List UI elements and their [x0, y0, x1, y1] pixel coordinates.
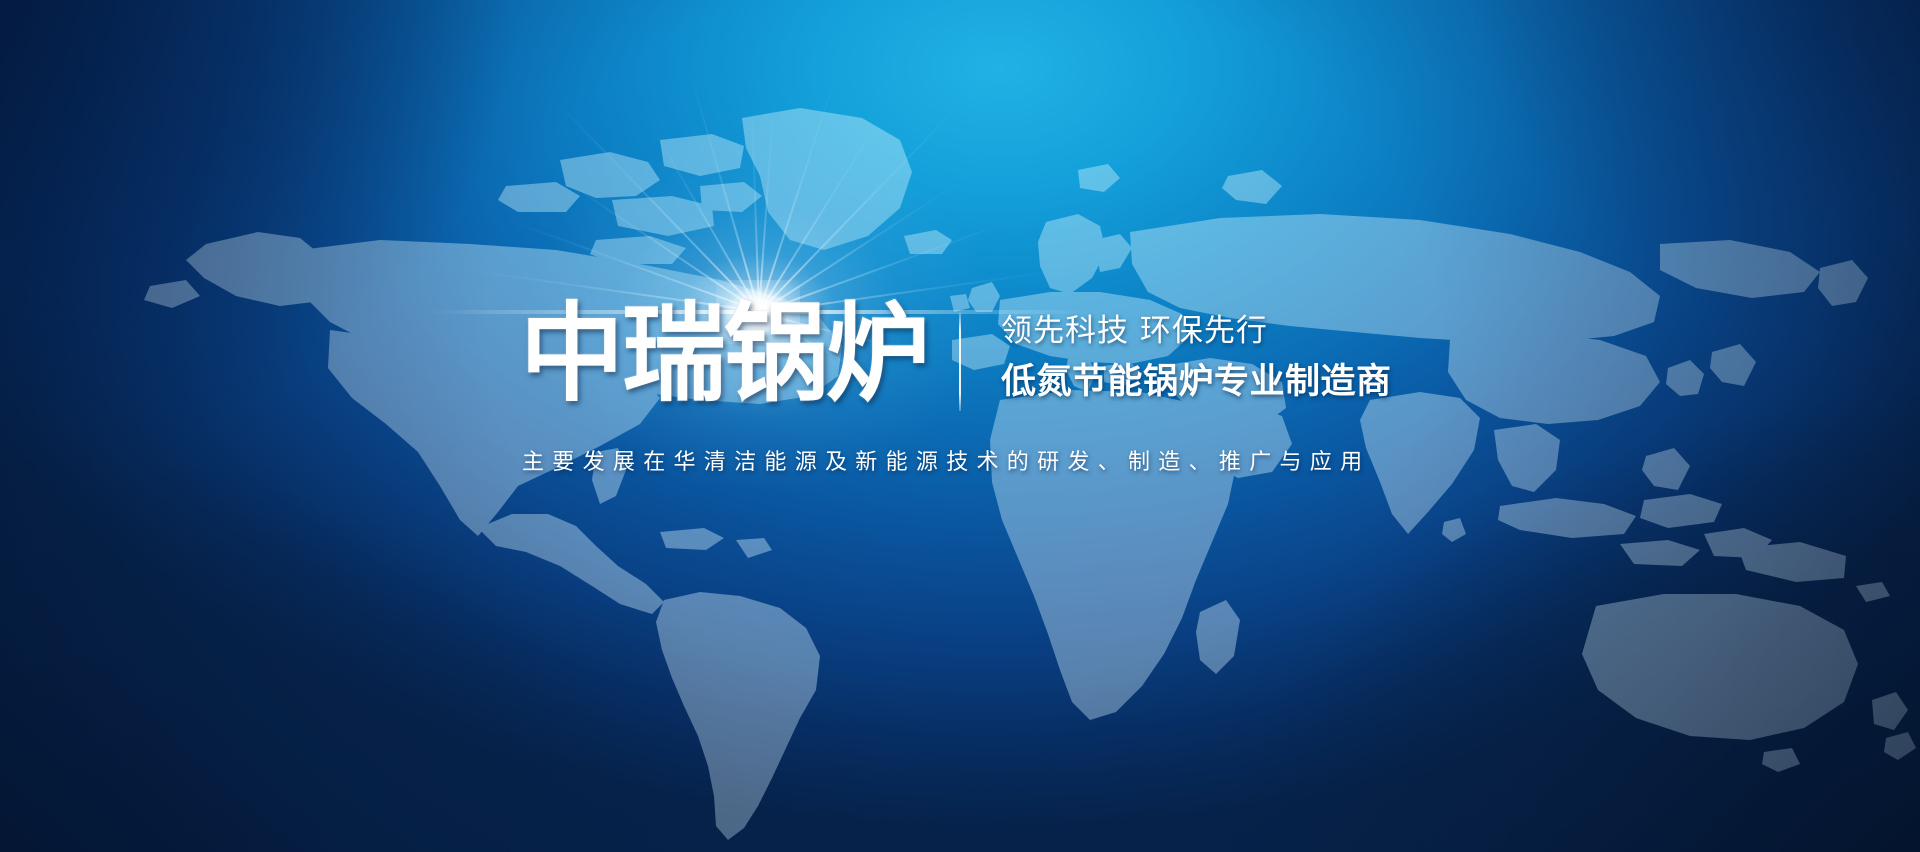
brand-logo-text: 中瑞锅炉 — [520, 300, 928, 407]
tagline-block: 领先科技 环保先行 低氮节能锅炉专业制造商 — [1001, 310, 1392, 406]
banner-subtitle: 主要发展在华清洁能源及新能源技术的研发、制造、推广与应用 — [522, 446, 1370, 480]
hero-banner: 中瑞锅炉 领先科技 环保先行 低氮节能锅炉专业制造商 主要发展在华清洁能源及新能… — [0, 0, 1920, 852]
banner-content: 中瑞锅炉 领先科技 环保先行 低氮节能锅炉专业制造商 主要发展在华清洁能源及新能… — [0, 0, 1920, 852]
brand-logo: 中瑞锅炉 — [520, 300, 928, 404]
tagline-primary: 领先科技 环保先行 — [1001, 310, 1392, 352]
vertical-divider — [959, 313, 961, 411]
tagline-secondary: 低氮节能锅炉专业制造商 — [1001, 358, 1392, 406]
